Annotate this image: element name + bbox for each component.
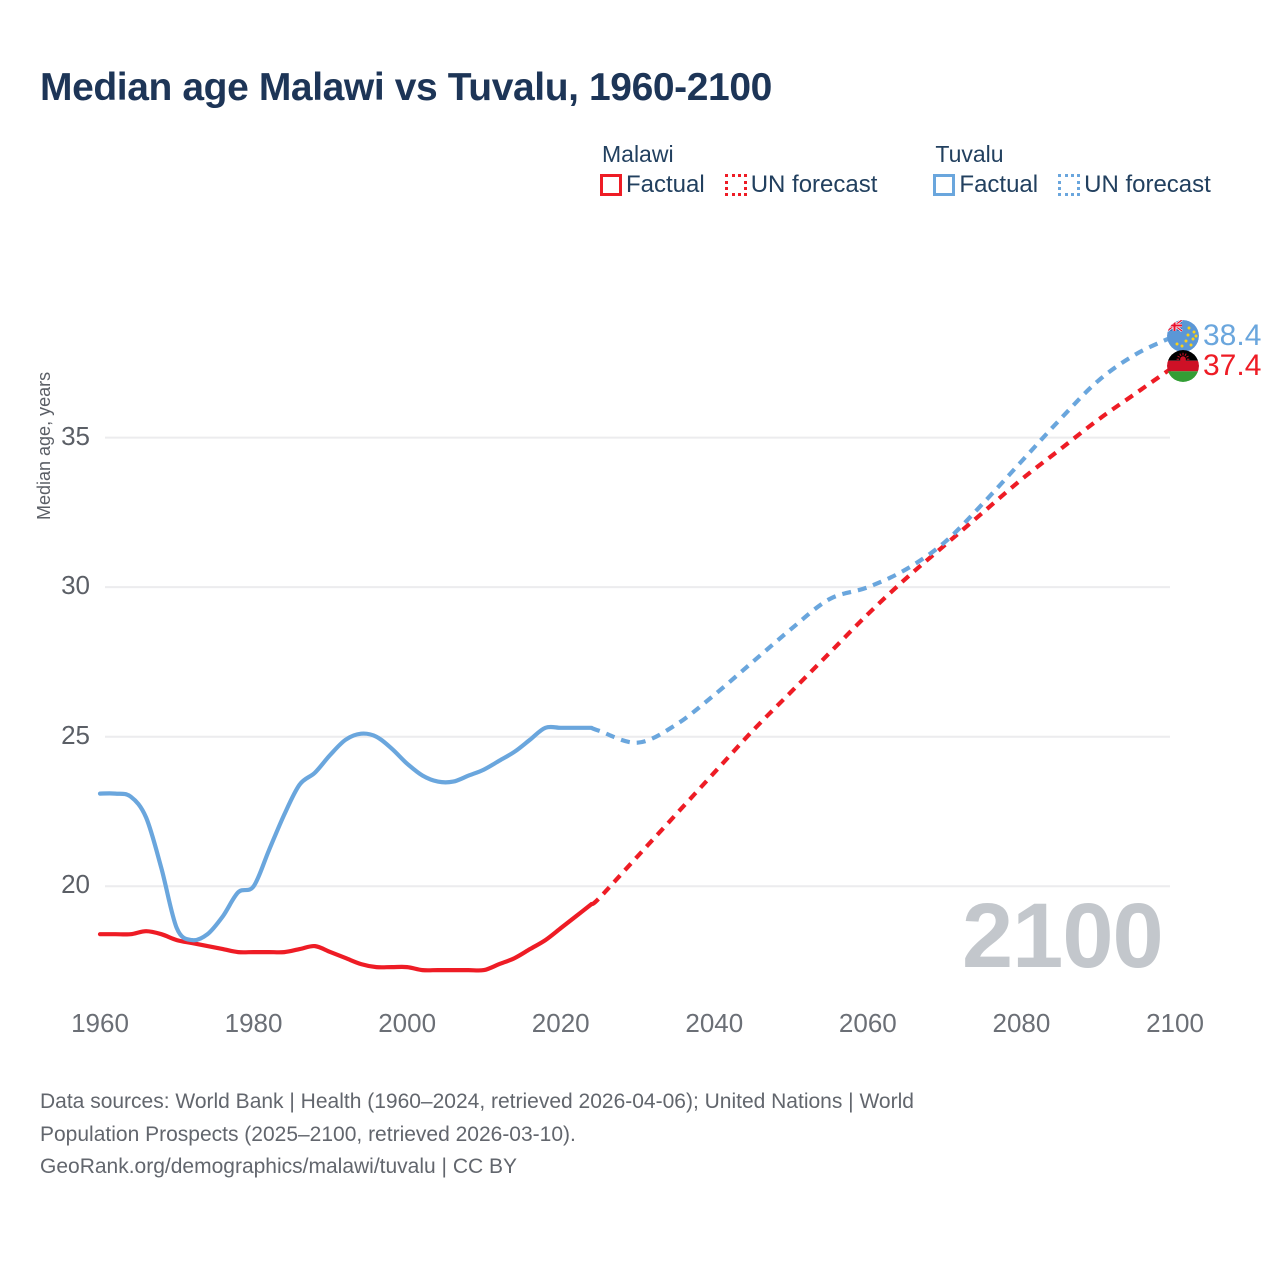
footer-sources: Data sources: World Bank | Health (1960–… [40,1086,1170,1184]
end-label-malawi: 37.4 [1167,350,1261,382]
y-tick-30: 30 [38,570,90,601]
end-value-tuvalu: 38.4 [1203,321,1261,351]
end-value-malawi: 37.4 [1203,351,1261,381]
y-tick-35: 35 [38,421,90,452]
footer-line-1: Data sources: World Bank | Health (1960–… [40,1086,1170,1119]
legend-swatch-dotted-icon [1058,174,1080,196]
tuvalu-flag-icon [1167,320,1199,352]
legend-group-title-malawi: Malawi [600,142,877,167]
legend-label-tuvalu-factual: Factual [959,171,1038,199]
legend-label-tuvalu-forecast: UN forecast [1084,171,1211,199]
x-tick-2020: 2020 [501,1008,621,1039]
x-tick-2060: 2060 [808,1008,928,1039]
malawi-flag-icon [1167,350,1199,382]
legend-item-malawi-factual[interactable]: Factual [600,171,705,199]
legend-label-malawi-forecast: UN forecast [751,171,878,199]
legend-group-title-tuvalu: Tuvalu [933,142,1210,167]
x-tick-2000: 2000 [347,1008,467,1039]
legend-swatch-dotted-icon [725,174,747,196]
footer-line-3: GeoRank.org/demographics/malawi/tuvalu |… [40,1151,1170,1184]
legend-group-tuvalu: Tuvalu Factual UN forecast [933,142,1210,199]
footer-line-2: Population Prospects (2025–2100, retriev… [40,1119,1170,1152]
x-tick-1980: 1980 [194,1008,314,1039]
chart-legend: Malawi Factual UN forecast Tuvalu Factua… [600,142,1211,199]
legend-swatch-solid-icon [600,174,622,196]
y-tick-25: 25 [38,720,90,751]
year-watermark: 2100 [962,884,1163,989]
legend-item-tuvalu-factual[interactable]: Factual [933,171,1038,199]
x-tick-2100: 2100 [1115,1008,1235,1039]
page-title: Median age Malawi vs Tuvalu, 1960-2100 [40,66,772,110]
end-label-tuvalu: 38.4 [1167,320,1261,352]
x-tick-2080: 2080 [961,1008,1081,1039]
x-tick-1960: 1960 [40,1008,160,1039]
x-tick-2040: 2040 [654,1008,774,1039]
legend-swatch-solid-icon [933,174,955,196]
legend-label-malawi-factual: Factual [626,171,705,199]
y-tick-20: 20 [38,869,90,900]
legend-item-tuvalu-forecast[interactable]: UN forecast [1058,171,1211,199]
legend-group-malawi: Malawi Factual UN forecast [600,142,877,199]
legend-item-malawi-forecast[interactable]: UN forecast [725,171,878,199]
